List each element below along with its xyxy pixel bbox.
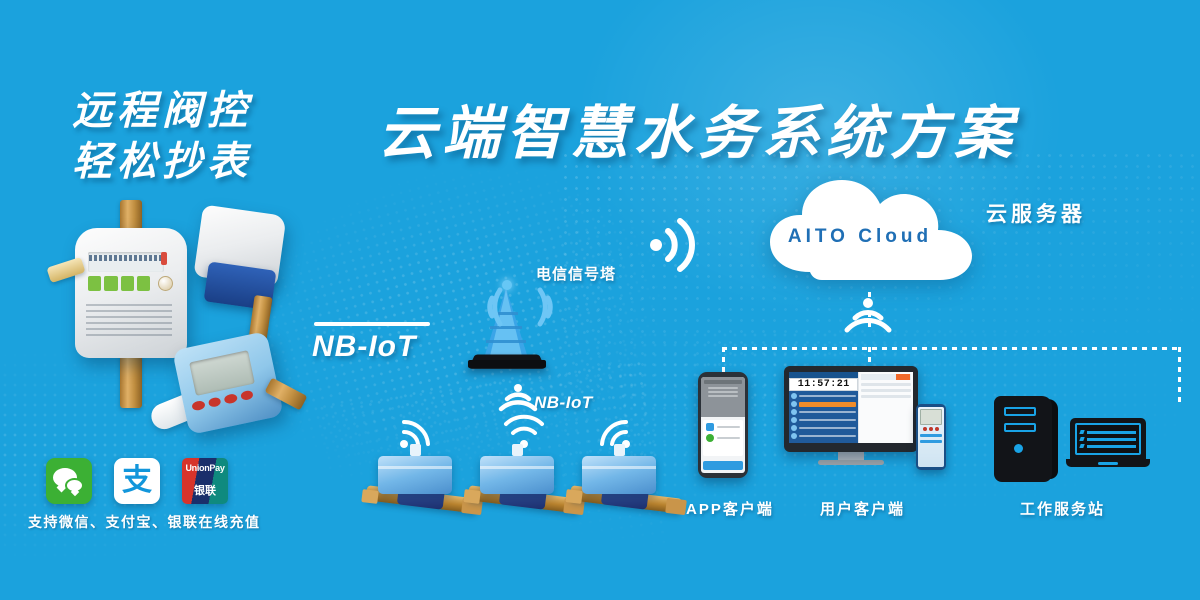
tower-base-shadow <box>468 360 546 368</box>
cloud-server-graphic: AITO Cloud <box>762 168 982 288</box>
handheld-action-bar <box>920 434 942 437</box>
monitor-clock: 11:57:21 <box>789 378 858 391</box>
cloud-connector-line <box>868 292 871 330</box>
handheld-screen <box>918 407 944 467</box>
alipay-glyph: 支 <box>122 466 152 496</box>
handheld-lcd <box>920 409 942 425</box>
cloud-server-label: 云服务器 <box>986 198 1086 228</box>
meter-lcd-text <box>89 255 163 261</box>
workstation-graphic[interactable] <box>988 396 1158 492</box>
field-meter-body <box>378 456 452 494</box>
nbiot-underline-rule <box>314 322 430 326</box>
kicker-line-1: 远程阀控 <box>72 89 252 133</box>
monitor-right-panel <box>858 372 913 443</box>
user-client-monitor[interactable]: 11:57:21 <box>784 366 918 464</box>
monitor-menu-list <box>789 391 858 443</box>
meter-pipe-bottom <box>120 352 142 408</box>
phone-submit-button[interactable] <box>703 461 743 470</box>
kicker-line-2: 轻松抄表 <box>72 137 252 188</box>
cloud-brand-label: AITO Cloud <box>762 226 958 248</box>
tower-to-cloud-signal-icon <box>646 216 706 274</box>
nbiot-label-small: NB-IoT <box>534 393 593 413</box>
telecom-tower-label: 电信信号塔 <box>536 263 616 284</box>
monitor-screen: 11:57:21 <box>789 372 913 443</box>
wechat-pay-icon[interactable] <box>46 458 92 504</box>
handheld-indicator-dots <box>920 427 942 431</box>
monitor-bezel: 11:57:21 <box>784 366 918 452</box>
page-title: 云端智慧水务系统方案 <box>378 86 1018 170</box>
field-smart-meter <box>468 452 584 518</box>
tower-signal-arc-left-icon <box>466 284 512 330</box>
monitor-foot <box>818 460 884 465</box>
workstation-drive-slot <box>1004 423 1036 432</box>
field-meter-inlet <box>565 489 582 504</box>
tower-rung <box>486 340 526 343</box>
alipay-icon[interactable]: 支 <box>114 458 160 504</box>
phone-header-area <box>701 377 745 417</box>
workstation-connector-line <box>1178 347 1181 403</box>
app-client-label: APP客户端 <box>686 498 774 519</box>
product-meter-photos <box>30 200 320 450</box>
phone-payment-card <box>703 420 743 456</box>
app-client-phone[interactable] <box>698 372 748 478</box>
banner-root: 远程阀控 轻松抄表 云端智慧水务系统方案 支 UnionPay <box>0 0 1200 600</box>
field-meter-inlet <box>361 489 378 504</box>
field-meter-antenna-nub <box>512 444 523 456</box>
workstation-tower <box>994 396 1052 482</box>
field-meter-body <box>480 456 554 494</box>
workstation-power-button[interactable] <box>1014 444 1023 453</box>
meter-uplink-signal-icon <box>496 382 540 416</box>
kicker-text: 远程阀控 轻松抄表 <box>72 86 252 188</box>
unionpay-bottom-text: 银联 <box>182 482 228 498</box>
unionpay-icon[interactable]: UnionPay 银联 <box>182 458 228 504</box>
phone-screen <box>701 377 745 473</box>
field-meter-body <box>582 456 656 494</box>
meter-led-indicator <box>161 252 167 265</box>
white-smart-water-meter <box>75 228 187 358</box>
unionpay-top-text: UnionPay <box>182 463 228 473</box>
workstation-drive-slot <box>1004 407 1036 416</box>
handheld-meter-reader[interactable] <box>916 404 946 470</box>
laptop-screen <box>1075 423 1141 455</box>
handheld-action-bar <box>920 440 942 443</box>
nbiot-label-large: NB-IoT <box>312 330 416 364</box>
monitor-left-panel: 11:57:21 <box>789 372 858 443</box>
tower-signal-arc-right-icon <box>528 284 574 330</box>
workstation-label: 工作服务站 <box>1020 498 1105 519</box>
laptop-trackpad <box>1098 462 1118 465</box>
user-client-label: 用户客户端 <box>820 498 905 519</box>
meter-button-row <box>88 276 150 291</box>
meter-spec-label <box>86 304 172 338</box>
field-meter-antenna-nub <box>410 444 421 456</box>
client-bus-connector-line <box>722 347 1180 350</box>
meter-knob <box>158 276 173 291</box>
field-meter-inlet <box>463 489 480 504</box>
monitor-right-header <box>861 374 911 380</box>
field-smart-meter <box>366 452 482 518</box>
field-meter-antenna-nub <box>614 444 625 456</box>
payment-caption: 支持微信、支付宝、银联在线充值 <box>28 512 261 532</box>
laptop-lid <box>1070 418 1146 460</box>
workstation-laptop <box>1066 418 1150 470</box>
field-meter-signal-icon <box>502 418 546 450</box>
payment-methods-row: 支 UnionPay 银联 <box>46 458 228 504</box>
field-meter-outlet <box>665 498 687 515</box>
field-smart-meter <box>570 452 686 518</box>
